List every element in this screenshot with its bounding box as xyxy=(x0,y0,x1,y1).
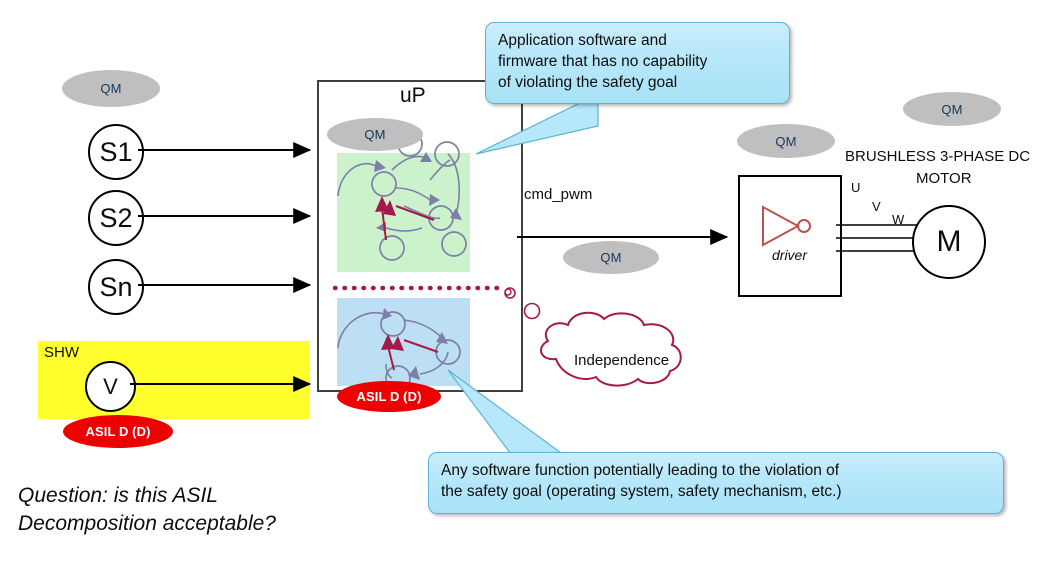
question-text: Question: is this ASIL Decomposition acc… xyxy=(18,482,276,537)
driver-label: driver xyxy=(772,247,807,263)
qm-badge-label: QM xyxy=(364,127,385,142)
safety-sw-callout: Any software function potentially leadin… xyxy=(428,452,1004,514)
callout-line: Any software function potentially leadin… xyxy=(441,461,991,482)
sensor-sn[interactable]: Sn xyxy=(88,259,144,315)
asil-badge-safety-hardware: ASIL D (D) xyxy=(63,415,173,448)
callout-line: firmware that has no capability xyxy=(498,52,777,73)
asil-badge-label: ASIL D (D) xyxy=(356,389,421,404)
sensor-arrows xyxy=(138,135,323,320)
motor-circle: M xyxy=(912,205,986,279)
three-phase-wires xyxy=(836,222,922,258)
independence-label: Independence xyxy=(574,352,669,369)
qm-badge-driver: QM xyxy=(737,124,835,158)
phase-label-v: V xyxy=(872,199,881,214)
callout-line: of violating the safety goal xyxy=(498,73,777,94)
motor-title-line2: MOTOR xyxy=(916,170,972,187)
sensor-s1[interactable]: S1 xyxy=(88,124,144,180)
motor-title-line1: BRUSHLESS 3-PHASE DC xyxy=(845,148,1030,165)
cmd-pwm-label: cmd_pwm xyxy=(524,186,592,203)
question-line-1: Question: is this ASIL xyxy=(18,482,276,510)
application-sw-callout: Application software and firmware that h… xyxy=(485,22,790,104)
monitor-sensor-v[interactable]: V xyxy=(85,361,136,412)
application-software-graph xyxy=(330,136,490,276)
qm-badge-cmd-pwm: QM xyxy=(563,241,659,274)
qm-badge-label: QM xyxy=(100,81,121,96)
monitor-arrow xyxy=(130,374,322,394)
motor-letter-label: M xyxy=(937,225,962,259)
up-label: uP xyxy=(400,84,426,108)
callout-line: Application software and xyxy=(498,31,777,52)
qm-badge-label: QM xyxy=(775,134,796,149)
sensor-sn-label: Sn xyxy=(99,272,132,303)
question-line-2: Decomposition acceptable? xyxy=(18,510,276,538)
qm-badge-motor: QM xyxy=(903,92,1001,126)
qm-badge-label: QM xyxy=(941,102,962,117)
qm-badge-sensors: QM xyxy=(62,70,160,107)
qm-badge-label: QM xyxy=(600,250,621,265)
driver-inverter-icon xyxy=(758,203,818,248)
asil-badge-safety-software: ASIL D (D) xyxy=(337,381,441,412)
sensor-s2[interactable]: S2 xyxy=(88,190,144,246)
qm-badge-application-software: QM xyxy=(327,118,423,151)
callout-line: the safety goal (operating system, safet… xyxy=(441,482,991,503)
shw-label: SHW xyxy=(44,344,79,361)
monitor-sensor-label: V xyxy=(103,374,118,400)
sensor-s1-label: S1 xyxy=(99,137,132,168)
phase-label-u: U xyxy=(851,180,860,195)
sensor-s2-label: S2 xyxy=(99,203,132,234)
partition-separator xyxy=(332,283,517,297)
asil-badge-label: ASIL D (D) xyxy=(85,424,150,439)
